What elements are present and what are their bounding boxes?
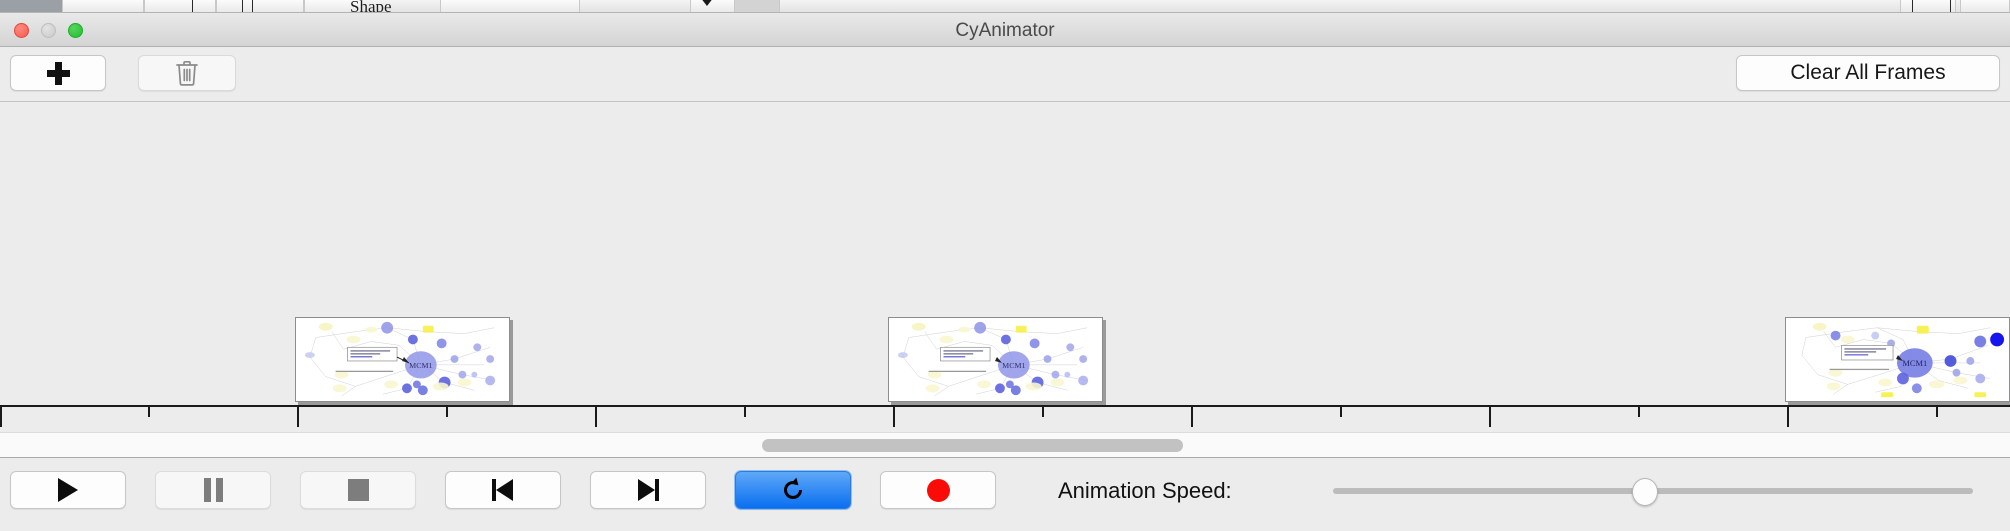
bg-segment <box>144 0 216 13</box>
axis-tick-minor <box>1638 406 1640 417</box>
axis-tick-minor <box>1936 406 1938 417</box>
axis-tick-minor <box>1042 406 1044 417</box>
bg-tick <box>242 0 243 13</box>
network-thumbnail-image: MCM1 <box>296 318 509 401</box>
animation-speed-slider-thumb[interactable] <box>1632 478 1658 506</box>
skip-to-end-button[interactable] <box>590 471 706 509</box>
titlebar: CyAnimator <box>0 13 2010 47</box>
background-window-strip: Shape <box>0 0 2010 13</box>
playback-bar: Animation Speed: <box>0 458 2010 531</box>
cyanimator-window: CyAnimator Clear All Frames MCM1 <box>0 13 2010 510</box>
axis-tick-major <box>1489 406 1491 427</box>
pause-icon <box>204 478 223 502</box>
timeline-frame-thumbnail[interactable]: MCM1 <box>1785 317 2010 402</box>
axis-tick-major <box>0 406 2 427</box>
timeline-frame-thumbnail[interactable]: MCM1 <box>888 317 1103 402</box>
pause-button[interactable] <box>155 471 271 509</box>
timeline-axis <box>0 405 2010 407</box>
bg-segment <box>0 0 62 13</box>
stop-button[interactable] <box>300 471 416 509</box>
bg-tick <box>1912 0 1913 13</box>
plus-icon <box>47 62 70 85</box>
skip-end-icon <box>637 479 659 501</box>
bg-segment <box>1900 0 1956 13</box>
bg-segment <box>62 0 144 13</box>
axis-tick-major <box>297 406 299 427</box>
play-icon <box>58 478 78 502</box>
record-icon <box>927 479 950 502</box>
network-thumbnail-image: MCM1 <box>1786 318 2009 401</box>
bg-tick <box>192 0 193 13</box>
timeline-frame-thumbnail[interactable]: MCM1 <box>295 317 510 402</box>
svg-text:MCM1: MCM1 <box>1902 359 1927 368</box>
bg-segment <box>440 0 580 13</box>
skip-start-icon <box>492 479 514 501</box>
bg-tick <box>1950 0 1951 13</box>
axis-tick-major <box>1191 406 1193 427</box>
loop-button[interactable] <box>735 471 851 509</box>
scrollbar-thumb[interactable] <box>762 439 1183 452</box>
window-title: CyAnimator <box>0 20 2010 42</box>
add-frame-button[interactable] <box>10 55 106 91</box>
axis-tick-major <box>595 406 597 427</box>
bg-segment <box>1960 0 2010 13</box>
bg-segment <box>734 0 780 13</box>
frame-toolbar: Clear All Frames <box>0 47 2010 102</box>
loop-icon <box>779 476 807 504</box>
record-button[interactable] <box>880 471 996 509</box>
timeline-panel[interactable]: MCM1 <box>0 102 2010 432</box>
bg-window-label: Shape <box>350 0 392 13</box>
axis-tick-minor <box>446 406 448 417</box>
stop-icon <box>348 479 369 501</box>
network-thumbnail-image: MCM1 <box>889 318 1102 401</box>
axis-tick-minor <box>1340 406 1342 417</box>
axis-tick-minor <box>744 406 746 417</box>
play-button[interactable] <box>10 471 126 509</box>
axis-tick-minor <box>148 406 150 417</box>
axis-tick-major <box>893 406 895 427</box>
svg-text:MCM1: MCM1 <box>409 361 432 370</box>
trash-icon <box>174 59 200 87</box>
delete-frame-button[interactable] <box>138 55 236 91</box>
clear-all-frames-button[interactable]: Clear All Frames <box>1736 55 2000 91</box>
bg-caret-icon <box>700 0 714 6</box>
bg-tick <box>252 0 253 13</box>
bg-segment <box>216 0 304 13</box>
skip-to-start-button[interactable] <box>445 471 561 509</box>
timeline-scrollbar[interactable] <box>0 432 2010 458</box>
axis-tick-major <box>1787 406 1789 427</box>
svg-text:MCM1: MCM1 <box>1002 361 1025 370</box>
animation-speed-label: Animation Speed: <box>1058 478 1232 504</box>
